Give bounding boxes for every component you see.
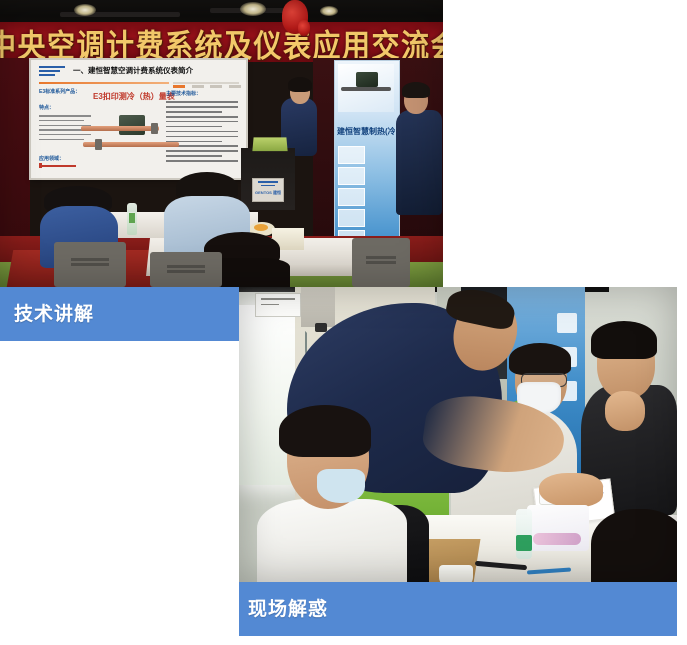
ceiling-light [320, 6, 338, 16]
pipe-illustration [81, 126, 159, 131]
photo-onsite-qa [239, 287, 677, 582]
pipe-flange [95, 139, 102, 150]
event-banner: 中央空调计费系统及仪表应用交流会 [0, 22, 443, 62]
foreground-head [591, 509, 677, 582]
pipe-flange [151, 123, 158, 134]
water-bottle [516, 509, 532, 559]
wall-sign [255, 293, 301, 317]
slide-spec-lines [166, 98, 238, 165]
attendee-standing-body [396, 110, 442, 215]
ceiling-light [240, 2, 266, 16]
podium-brand-plate: GENTOS 建恒 [252, 178, 284, 202]
event-banner-text: 中央空调计费系统及仪表应用交流会 [0, 22, 443, 62]
slide-rule [39, 82, 169, 84]
chair [54, 242, 126, 287]
figure-one-caption-bar: 技术讲解 [0, 287, 249, 341]
paper-cup [439, 565, 473, 582]
laptop [252, 137, 287, 151]
slide-tabs [173, 85, 241, 88]
attendee-front-hair [279, 405, 371, 457]
photo-technical-presentation: 中央空调计费系统及仪表应用交流会 一、建恒智慧空调计费系统仪表简介 E3标准系列… [0, 0, 443, 287]
figure-two-caption-text: 现场解惑 [248, 600, 328, 619]
attendee-front-body [257, 499, 407, 582]
chair [150, 252, 222, 287]
slide-title: 一、建恒智慧空调计费系统仪表简介 [73, 65, 193, 76]
water-bottle [127, 203, 137, 235]
attendee-masked-hair [509, 343, 571, 375]
figure-one-caption-text: 技术讲解 [14, 305, 94, 324]
speaker-hair [288, 77, 312, 92]
slide-left-column-header: E3标准系列产品： [39, 88, 80, 95]
slide-rule-secondary [173, 82, 239, 84]
slide-right-column-header: 主要技术指标： [166, 90, 201, 97]
ceiling-light [74, 4, 96, 16]
lantern-icon [298, 20, 310, 36]
figure-two-caption-bar: 现场解惑 [239, 582, 677, 636]
podium-brand-text: GENTOS 建恒 [253, 190, 283, 196]
rollup-banner-title: 建恒智慧制热(冷)量 水表 [337, 126, 395, 137]
wall-left [0, 58, 30, 248]
instructor-hand [539, 473, 603, 507]
chair [352, 238, 410, 287]
attendee-front-mask [317, 469, 365, 503]
rollup-device-photo [356, 72, 378, 87]
attendee-right-hand [605, 391, 645, 431]
flow-meter-illustration [119, 115, 145, 135]
attendee-right-hair [591, 321, 657, 359]
slide-footer-lines [39, 163, 76, 168]
slide-features-header: 特点： [39, 104, 54, 111]
slide-logo-icon [39, 66, 65, 78]
tissue-pack [527, 505, 589, 551]
figure-onsite-qa: 现场解惑 [239, 287, 677, 636]
slide-product-name: E3扣印测冷（热）量表 [93, 92, 175, 102]
projection-screen: 一、建恒智慧空调计费系统仪表简介 E3标准系列产品： E3扣印测冷（热）量表 特… [31, 60, 246, 178]
slide-footer-header: 应用领域： [39, 155, 64, 162]
wall-mount-box [301, 287, 335, 327]
power-plug [315, 323, 327, 332]
attendee-standing-hair [402, 82, 430, 98]
rollup-pipe-photo [341, 87, 391, 91]
